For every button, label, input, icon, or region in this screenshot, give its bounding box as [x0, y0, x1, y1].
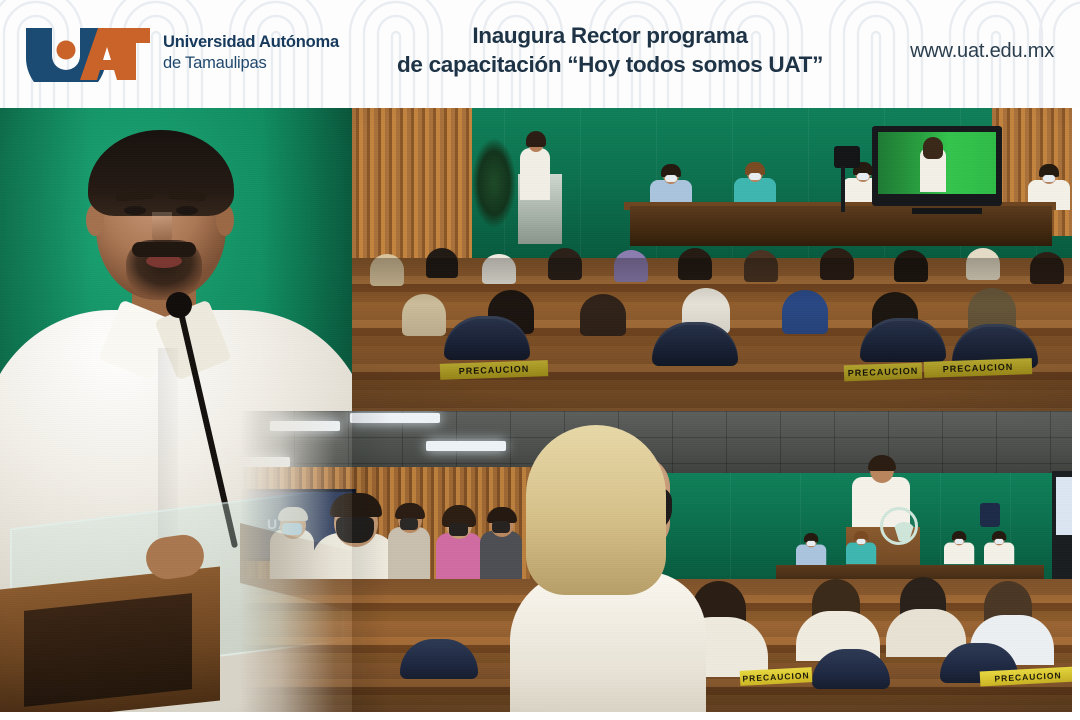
uat-logo-mark-icon: UAT: [22, 26, 150, 82]
potted-plant: [472, 138, 516, 228]
uat-logo[interactable]: UAT Universidad Autónoma de Tamaulipas: [22, 26, 339, 82]
uat-logo-wordmark: Universidad Autónoma de Tamaulipas: [163, 32, 339, 76]
video-camera-icon: [834, 146, 860, 168]
attendee-face-mask: [492, 521, 510, 533]
camera-operator-icon: [980, 503, 1000, 527]
page-header: UAT Universidad Autónoma de Tamaulipas I…: [0, 0, 1080, 108]
university-name-line1: Universidad Autónoma: [163, 32, 339, 53]
attendee-hair: [330, 493, 382, 517]
photo-collage: Primer plano del Rector con camisa blanc…: [0, 108, 1080, 712]
ceiling-light: [426, 441, 506, 451]
tv-person-hair: [923, 137, 943, 159]
foreground-attendee-hair: [526, 425, 666, 595]
attendee-face-mask: [400, 518, 418, 530]
presidium-table: [630, 206, 1052, 246]
headline: Inaugura Rector programa de capacitación…: [380, 22, 840, 80]
university-name-line2: de Tamaulipas: [163, 53, 339, 74]
institutional-seal-icon: [880, 507, 918, 545]
headline-line2: de capacitación “Hoy todos somos UAT”: [380, 51, 840, 80]
lectern-speaker-hair: [526, 131, 546, 147]
ceiling-light: [270, 421, 340, 431]
lectern-speaker-body: [520, 148, 550, 200]
eye-left: [124, 206, 146, 215]
panelist: [944, 531, 974, 564]
website-url[interactable]: www.uat.edu.mx: [910, 40, 1054, 63]
panelist: [796, 533, 826, 566]
tv-monitor: [872, 126, 1002, 206]
attendee-hair: [278, 507, 308, 521]
mustache: [132, 242, 196, 257]
photo-auditorium-wide: PRECAUCION PRECAUCION PRECAUCION Vista g…: [352, 108, 1080, 411]
tv-stand: [912, 208, 982, 214]
ceiling-light: [350, 413, 440, 423]
attendee-hair: [395, 503, 425, 519]
headline-line1: Inaugura Rector programa: [380, 22, 840, 51]
bottom-margin-strip: [0, 712, 1080, 720]
rector-hair: [868, 455, 896, 471]
panelist: [846, 531, 876, 564]
panelist: [984, 531, 1014, 564]
podium-front-panel: [24, 593, 192, 707]
photo-attendees: UAT: [240, 411, 1080, 712]
eye-right: [176, 206, 198, 215]
wood-slat-wall-left: [352, 108, 472, 260]
attendee-face-mask: [282, 523, 302, 535]
attendee-face-mask: [336, 517, 374, 543]
poster-canvas: UAT Universidad Autónoma de Tamaulipas I…: [0, 0, 1080, 720]
bench-shadow-overlay: [352, 258, 1080, 411]
microphone-head-icon: [166, 292, 192, 318]
right-margin-strip: [1072, 108, 1080, 720]
foreground-attendee: [510, 421, 700, 712]
attendee-face-mask: [449, 523, 468, 536]
ceiling-light: [240, 457, 290, 467]
tv-screen: [878, 132, 996, 194]
camera-tripod: [841, 166, 845, 212]
